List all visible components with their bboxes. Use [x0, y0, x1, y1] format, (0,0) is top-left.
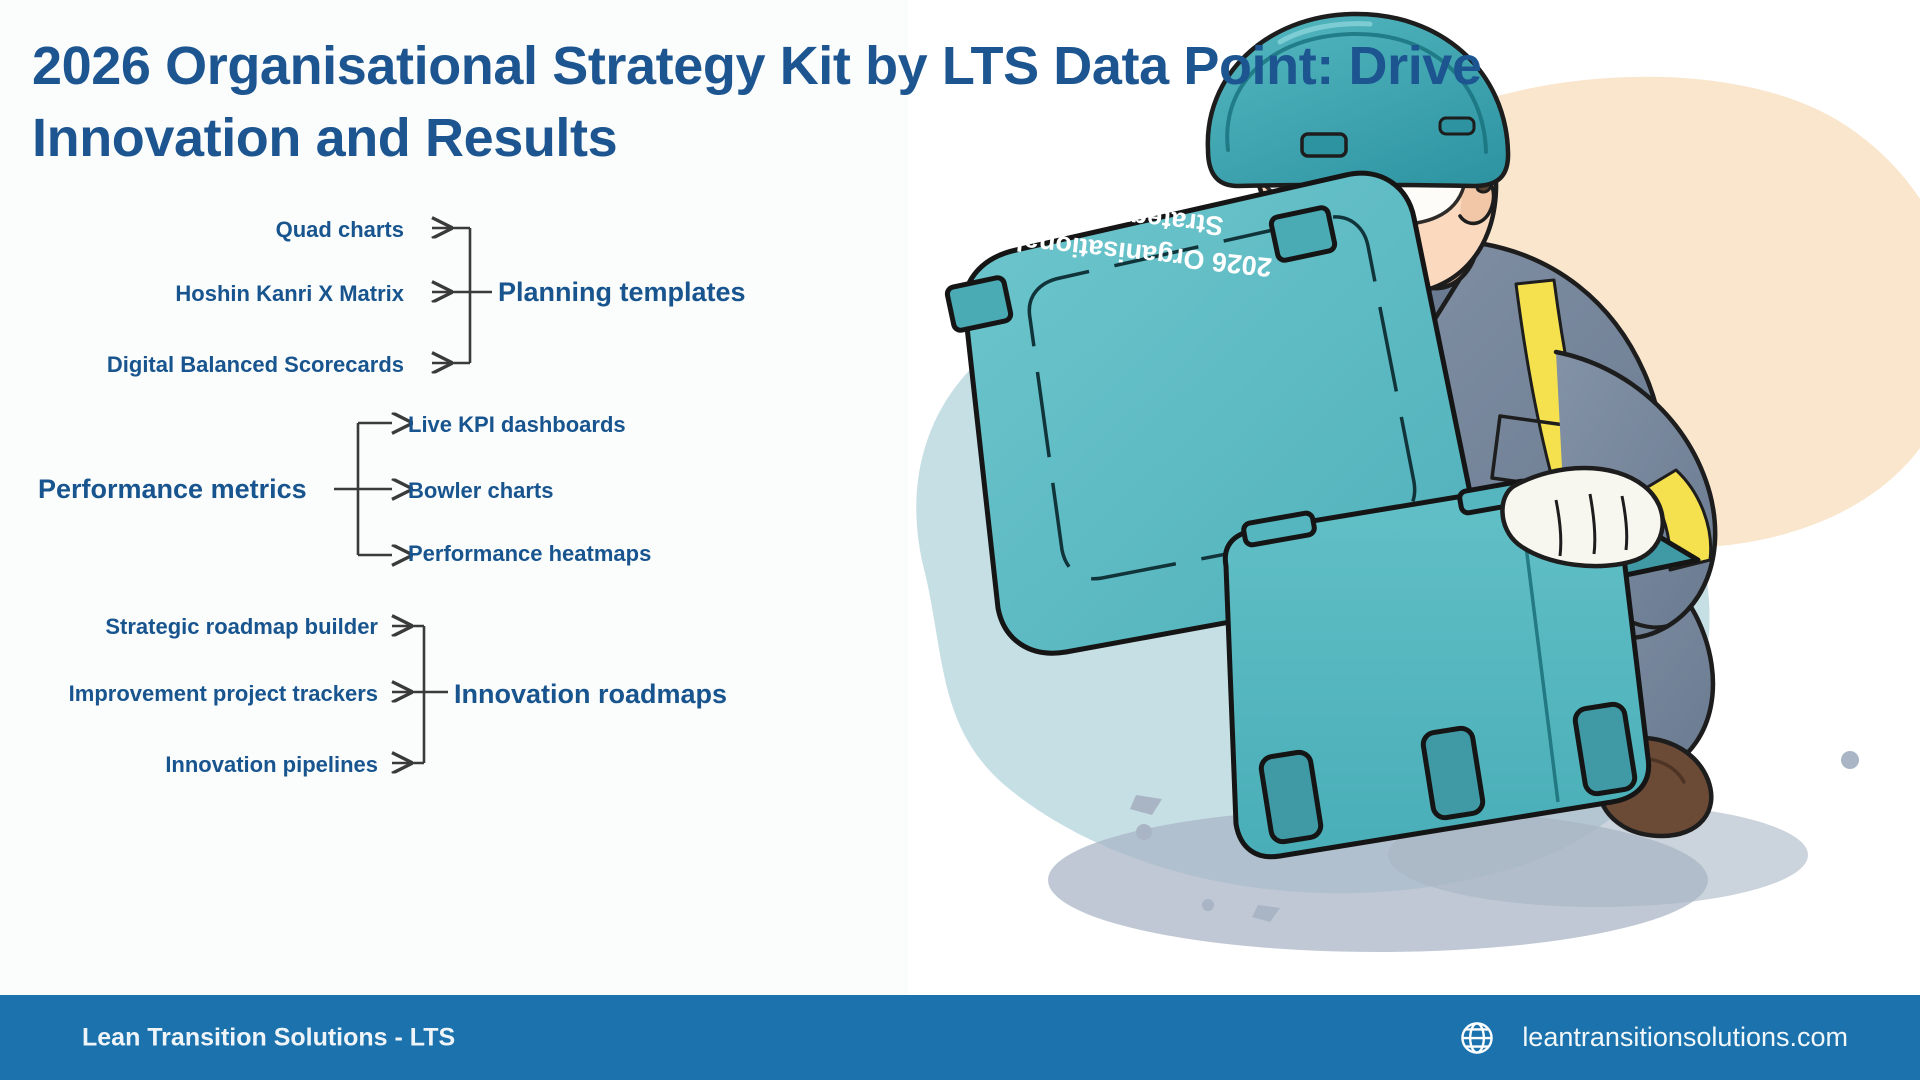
leaf-bowler-charts: Bowler charts	[408, 480, 554, 502]
engineer-glove	[1502, 468, 1662, 566]
hinge-left	[946, 276, 1012, 331]
category-planning-templates: Planning templates	[498, 279, 746, 306]
toolbox-foot-3	[1574, 703, 1637, 796]
footer-brand: Lean Transition Solutions - LTS	[82, 1023, 455, 1052]
footer-website[interactable]: leantransitionsolutions.com	[1458, 1019, 1848, 1057]
leaf-innovation-pipelines: Innovation pipelines	[0, 754, 378, 776]
toolbox-foot-2	[1422, 727, 1485, 820]
category-performance-metrics: Performance metrics	[38, 476, 307, 503]
leaf-digital-balanced-scorecards: Digital Balanced Scorecards	[0, 354, 404, 376]
footer-url-text: leantransitionsolutions.com	[1522, 1022, 1848, 1053]
leaf-performance-heatmaps: Performance heatmaps	[408, 543, 651, 565]
leaf-quad-charts: Quad charts	[0, 219, 404, 241]
category-innovation-roadmaps: Innovation roadmaps	[454, 681, 727, 708]
leaf-hoshin-kanri-x-matrix: Hoshin Kanri X Matrix	[0, 283, 404, 305]
page-title: 2026 Organisational Strategy Kit by LTS …	[32, 30, 1522, 175]
leaf-improvement-project-trackers: Improvement project trackers	[0, 683, 378, 705]
infographic-canvas: 2026 Organisational Strategy Kit 2026 Or…	[0, 0, 1920, 1080]
toolbox-foot-1	[1260, 751, 1323, 844]
footer-bar: Lean Transition Solutions - LTS leantran…	[0, 995, 1920, 1080]
leaf-strategic-roadmap-builder: Strategic roadmap builder	[0, 616, 378, 638]
leaf-live-kpi-dashboards: Live KPI dashboards	[408, 414, 626, 436]
globe-icon	[1458, 1019, 1496, 1057]
